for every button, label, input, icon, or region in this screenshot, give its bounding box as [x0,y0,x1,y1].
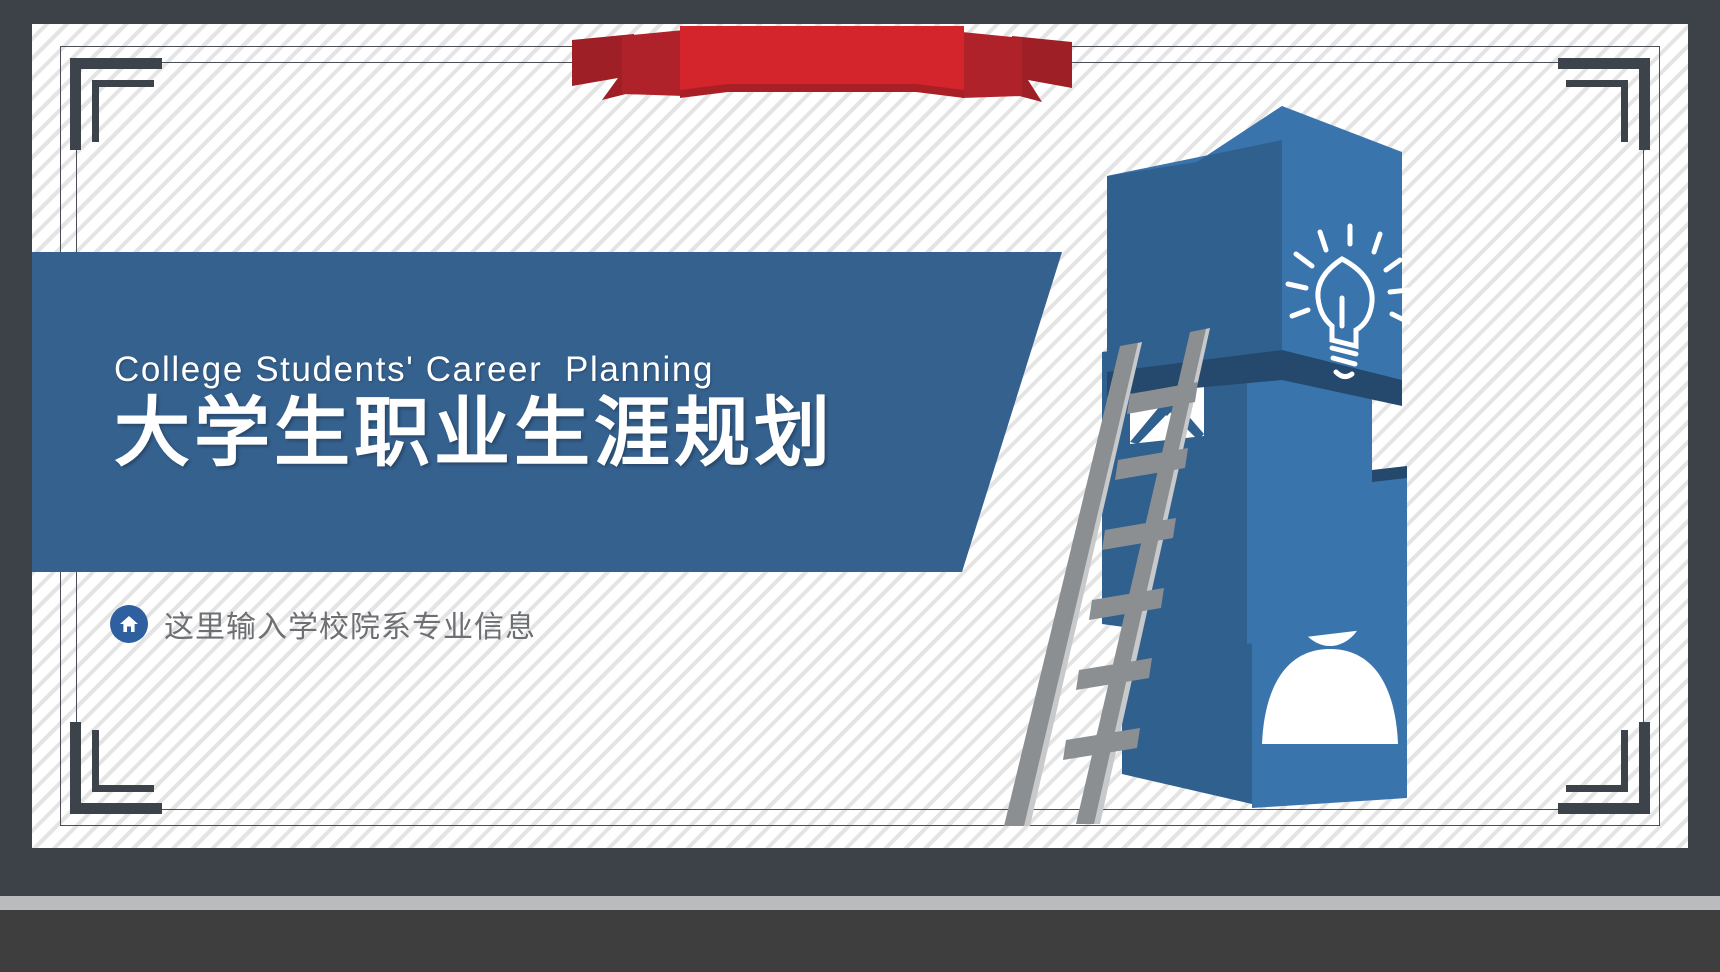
corner-arm-vertical-inner [1621,730,1628,792]
corner-ornament-top-right [1558,58,1650,150]
home-icon [110,605,148,643]
presentation-slide: College Students' Career Planning 大学生职业生… [0,0,1720,972]
corner-arm-vertical-inner [1621,80,1628,142]
corner-arm-vertical [70,58,81,150]
corner-arm-vertical [1639,722,1650,814]
subtitle-row: 这里输入学校院系专业信息 [110,602,536,646]
corner-ornament-top-left [70,58,162,150]
corner-arm-horizontal [70,58,162,69]
bottom-dark-bar [0,910,1720,972]
subtitle-text: 这里输入学校院系专业信息 [164,602,536,646]
corner-arm-horizontal-inner [1566,80,1628,87]
slide-paper-surface: College Students' Career Planning 大学生职业生… [32,24,1688,848]
corner-arm-horizontal [70,803,162,814]
bottom-grey-band [0,896,1720,910]
corner-arm-horizontal [1558,58,1650,69]
red-ribbon-banner [572,24,1072,106]
cube-top-lightbulb [1107,106,1408,406]
corner-ornament-bottom-right [1558,722,1650,814]
corner-arm-vertical [70,722,81,814]
title-banner: College Students' Career Planning 大学生职业生… [32,252,1062,572]
corner-arm-vertical-inner [92,730,99,792]
title-english: College Students' Career Planning [114,350,954,390]
cube-stack-illustration [952,84,1512,844]
title-chinese: 大学生职业生涯规划 [114,394,954,474]
corner-arm-horizontal-inner [92,785,154,792]
corner-arm-vertical [1639,58,1650,150]
corner-ornament-bottom-left [70,722,162,814]
corner-arm-horizontal-inner [92,80,154,87]
corner-arm-horizontal [1558,803,1650,814]
corner-arm-vertical-inner [92,80,99,142]
corner-arm-horizontal-inner [1566,785,1628,792]
title-text-block: College Students' Career Planning 大学生职业生… [114,252,954,572]
home-icon-glyph [117,612,141,636]
